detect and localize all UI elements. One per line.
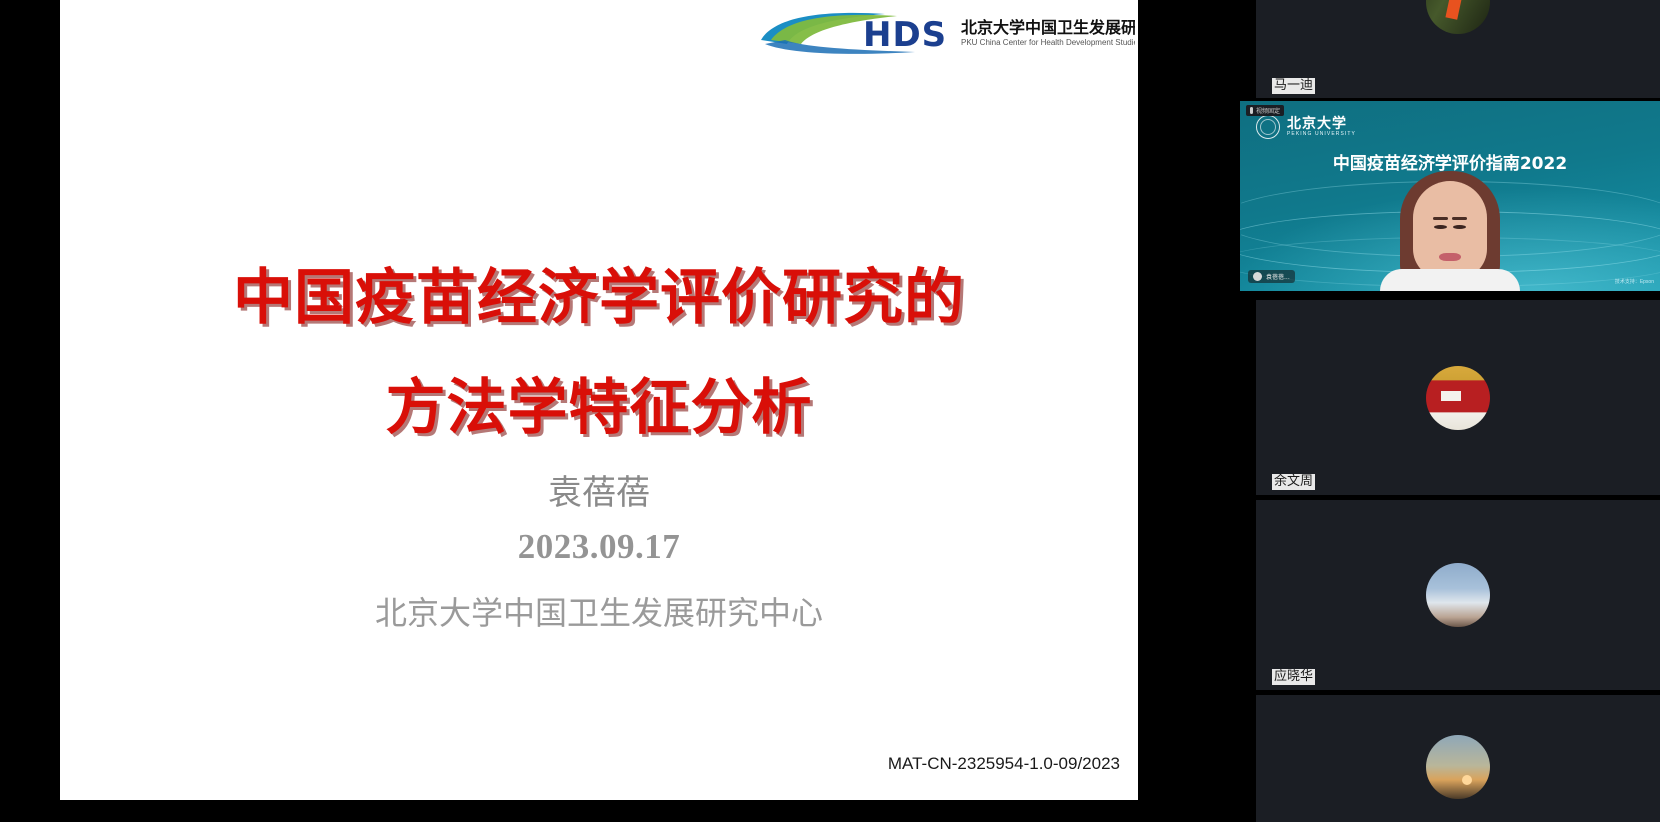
shared-slide-corner-note: 技术支持：Epson	[1615, 278, 1654, 285]
svg-text:北京大学中国卫生发展研究中心: 北京大学中国卫生发展研究中心	[961, 18, 1135, 37]
participant-tile[interactable]: 余文周	[1256, 300, 1660, 495]
slide-title-line-2: 方法学特征分析	[60, 353, 1138, 463]
speaker-name-badge: 袁蓓蓓...	[1248, 270, 1295, 283]
slide-author: 袁蓓蓓	[60, 465, 1138, 514]
avatar	[1426, 735, 1490, 799]
slide-title: 中国疫苗经济学评价研究的 方法学特征分析	[60, 243, 1138, 463]
participant-tile[interactable]: 马一迪	[1256, 0, 1660, 98]
pku-logo-en: PEKING UNIVERSITY	[1287, 132, 1356, 137]
hds-logo: HDS 北京大学中国卫生发展研究中心 PKU China Center for …	[755, 10, 1135, 56]
participant-name: 马一迪	[1272, 78, 1315, 94]
svg-text:HDS: HDS	[863, 15, 947, 55]
slide-footer-code: MAT-CN-2325954-1.0-09/2023	[888, 754, 1120, 774]
seal-icon	[1256, 115, 1280, 139]
participant-tile-active-speaker[interactable]: 北京大学 PEKING UNIVERSITY 中国疫苗经济学评价指南2022 解…	[1240, 101, 1660, 291]
participant-tile[interactable]	[1256, 695, 1660, 822]
participant-tile[interactable]: 应晓华	[1256, 500, 1660, 690]
pku-logo-cn: 北京大学	[1287, 117, 1356, 132]
microphone-icon	[1250, 107, 1253, 114]
avatar	[1426, 563, 1490, 627]
video-feed: 北京大学 PEKING UNIVERSITY 中国疫苗经济学评价指南2022 解…	[1240, 101, 1660, 291]
meeting-window: HDS 北京大学中国卫生发展研究中心 PKU China Center for …	[0, 0, 1660, 822]
participant-name: 应晓华	[1272, 669, 1315, 685]
slide-title-line-1: 中国疫苗经济学评价研究的	[60, 243, 1138, 353]
microphone-icon	[1253, 272, 1262, 281]
avatar	[1426, 366, 1490, 430]
slide-date: 2023.09.17	[60, 527, 1138, 567]
presentation-slide[interactable]: HDS 北京大学中国卫生发展研究中心 PKU China Center for …	[60, 0, 1138, 800]
participant-sidebar[interactable]: 马一迪 北京大学 PEKING UNIVERSITY 中国疫苗经济学评价指南20…	[1240, 0, 1660, 822]
shared-screen-stage: HDS 北京大学中国卫生发展研究中心 PKU China Center for …	[0, 0, 1205, 822]
pin-video-tag-label: 视频固定	[1256, 106, 1280, 115]
peking-university-logo: 北京大学 PEKING UNIVERSITY	[1256, 115, 1356, 139]
pin-video-tag[interactable]: 视频固定	[1246, 105, 1284, 116]
svg-text:PKU China Center for Health De: PKU China Center for Health Development …	[961, 38, 1135, 47]
avatar	[1426, 0, 1490, 34]
webcam-person	[1375, 163, 1525, 291]
speaker-name: 袁蓓蓓...	[1266, 272, 1290, 281]
slide-organization: 北京大学中国卫生发展研究中心	[60, 588, 1138, 634]
participant-name: 余文周	[1272, 474, 1315, 490]
